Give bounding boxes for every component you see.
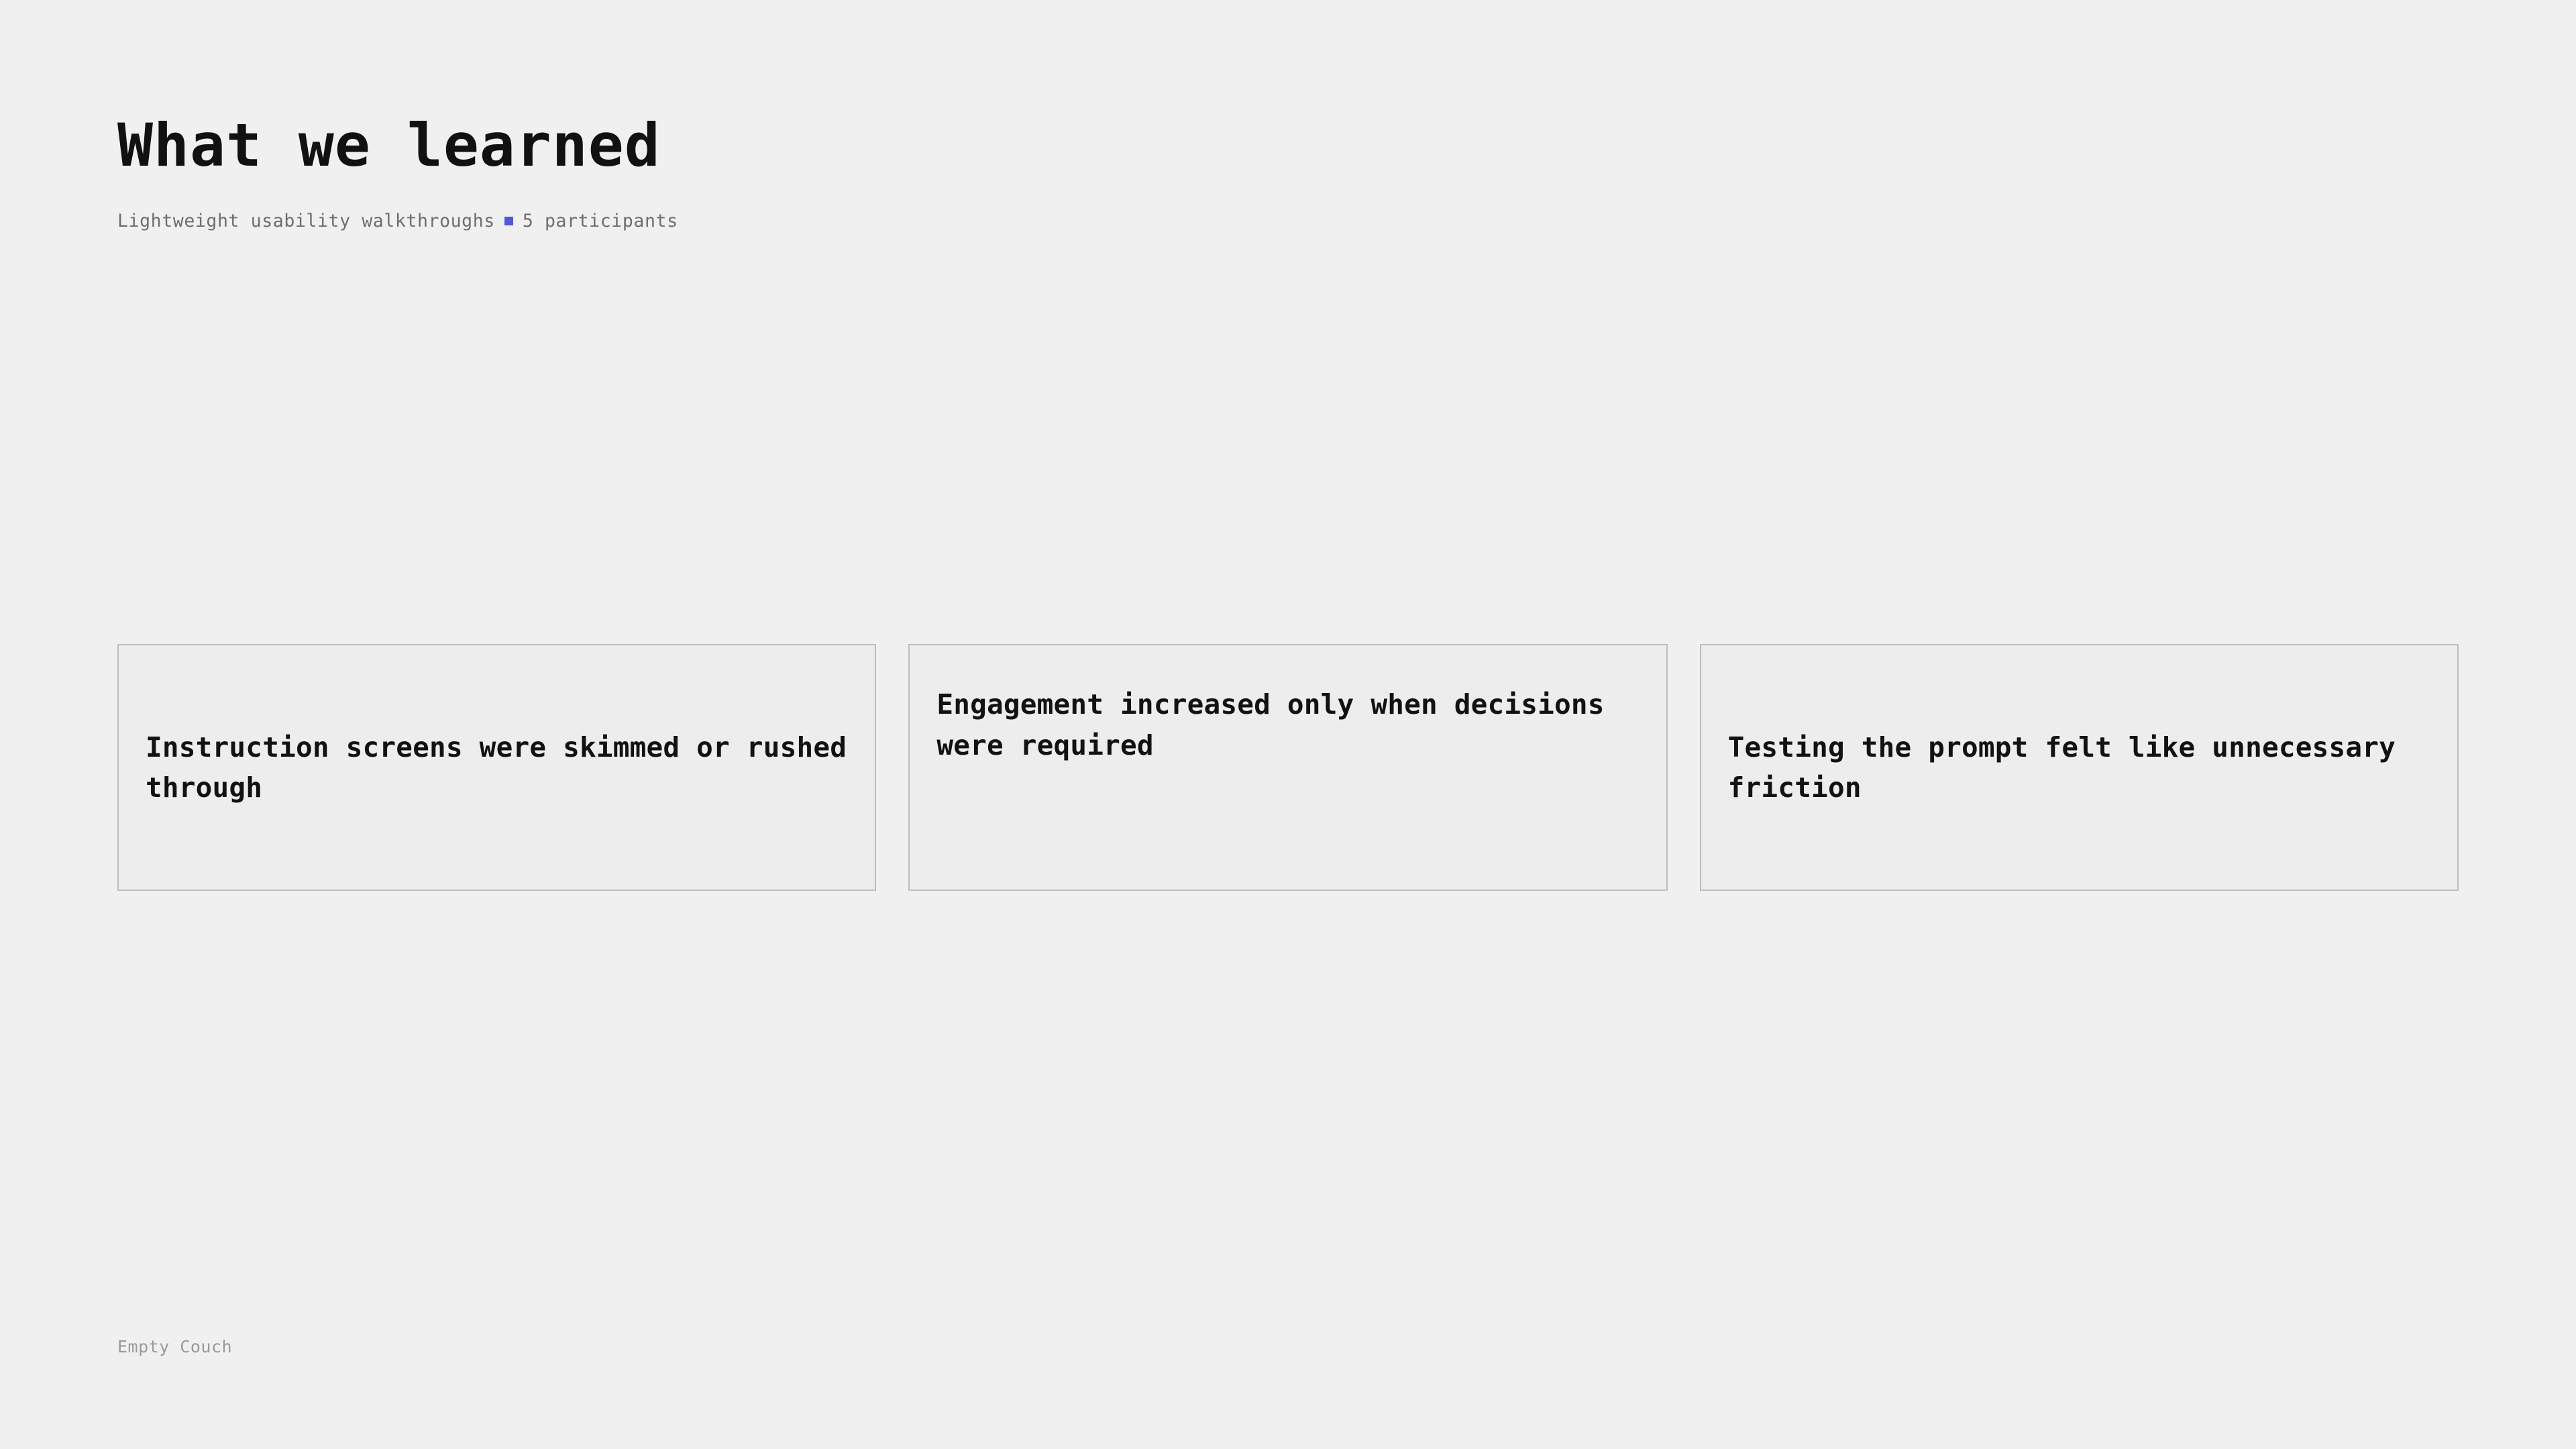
finding-card-1-text: Instruction screens were skimmed or rush… xyxy=(146,727,848,808)
findings-card-row: Instruction screens were skimmed or rush… xyxy=(117,644,2459,891)
finding-card-2[interactable]: Engagement increased only when decisions… xyxy=(908,644,1667,891)
finding-card-3[interactable]: Testing the prompt felt like unnecessary… xyxy=(1700,644,2459,891)
finding-card-2-text: Engagement increased only when decisions… xyxy=(936,684,1639,765)
slide-root: What we learned Lightweight usability wa… xyxy=(0,0,2576,1449)
page-title: What we learned xyxy=(117,113,2459,179)
finding-card-1[interactable]: Instruction screens were skimmed or rush… xyxy=(117,644,876,891)
findings-region: Instruction screens were skimmed or rush… xyxy=(117,199,2459,1337)
finding-card-3-text: Testing the prompt felt like unnecessary… xyxy=(1728,727,2430,808)
footer-brand-label: Empty Couch xyxy=(117,1337,2459,1356)
slide-footer: Empty Couch xyxy=(117,1337,2459,1449)
